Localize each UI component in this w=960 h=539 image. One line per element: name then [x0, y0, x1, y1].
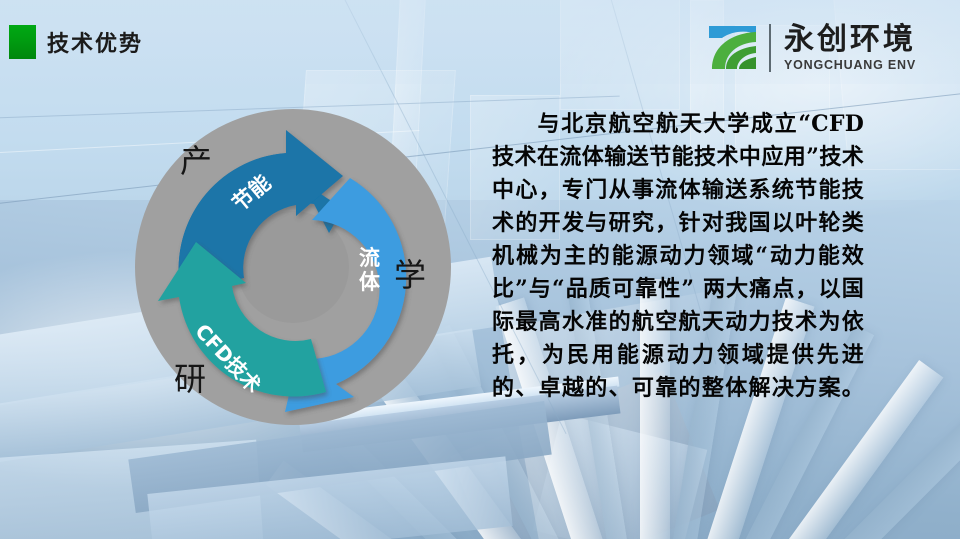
paragraph-text: 与北京航空航天大学成立“CFD技术在流体输送节能技术中应用”技术中心，专门从事流…	[492, 111, 864, 401]
logo-name-cn: 永创环境	[784, 24, 916, 56]
logo-wordmark: 永创环境 YONGCHUANG ENV	[784, 24, 916, 72]
cycle-segment-label-liuti: 流体	[359, 246, 381, 294]
green-square-icon	[9, 25, 36, 59]
cycle-outer-label-chan: 产	[180, 136, 212, 182]
brand-logo: 永创环境 YONGCHUANG ENV	[706, 20, 916, 76]
leaf-swoosh-logo-icon	[706, 22, 760, 74]
cycle-diagram: 节能 流体 CFD技术 产 学 研	[118, 92, 468, 442]
logo-name-en: YONGCHUANG ENV	[784, 58, 916, 72]
slide-canvas: 技术优势 永创环境 YONGCHUANG ENV	[0, 0, 960, 539]
cycle-outer-label-yan: 研	[174, 354, 206, 400]
logo-divider	[769, 24, 771, 72]
body-paragraph: 与北京航空航天大学成立“CFD技术在流体输送节能技术中应用”技术中心，专门从事流…	[492, 108, 864, 405]
page-title: 技术优势	[47, 26, 143, 58]
cycle-outer-label-xue: 学	[394, 250, 426, 296]
background-tower-3	[560, 0, 680, 110]
